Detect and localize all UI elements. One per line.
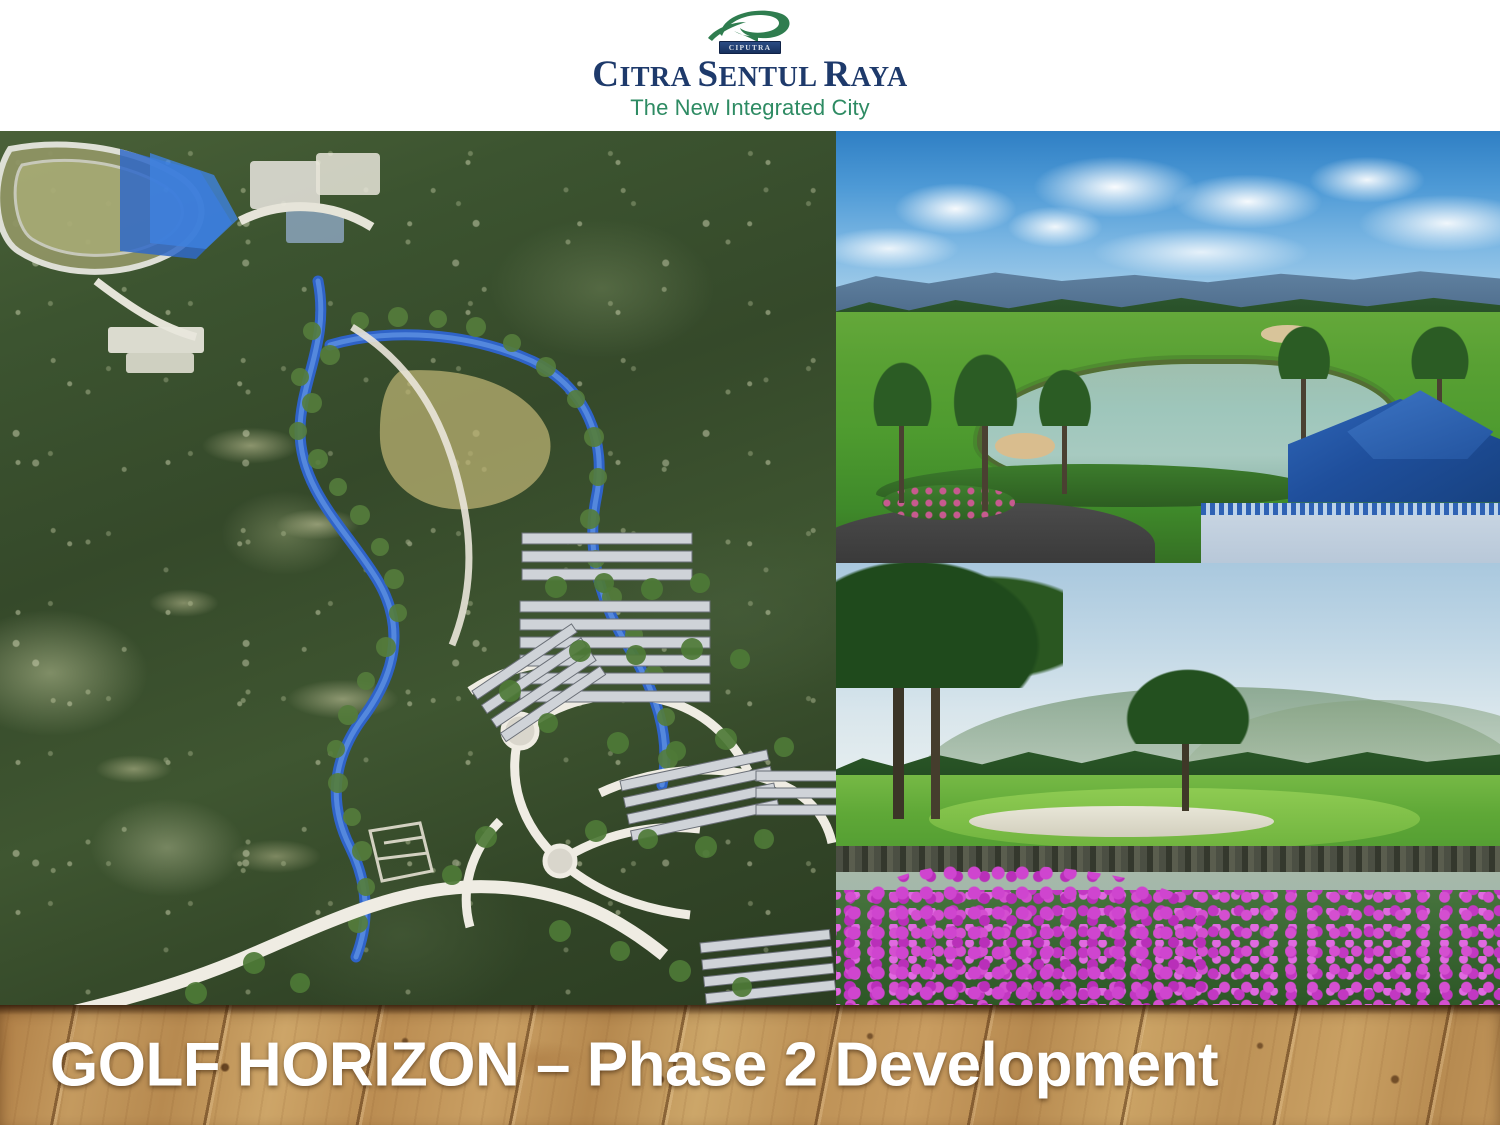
photo-clubhouse-tile-trim [1201, 503, 1500, 516]
brand-name-r2: ENTUL [719, 62, 824, 93]
title-banner: GOLF HORIZON – Phase 2 Development [0, 1005, 1500, 1125]
brand-name-c1: C [592, 54, 619, 95]
banner-top-shadow [0, 1005, 1500, 1015]
slide-title: GOLF HORIZON – Phase 2 Development [50, 1030, 1218, 1101]
ciputra-swoosh-icon: CIPUTRA [690, 4, 810, 54]
media-area [0, 131, 1500, 1005]
ciputra-badge: CIPUTRA [719, 41, 781, 54]
brand-name-r1: ITRA [619, 62, 697, 93]
aerial-river-and-roads [0, 131, 836, 1005]
photo-palm-tree [949, 347, 1022, 511]
slide-root: CIPUTRA CITRA SENTUL RAYA The New Integr… [0, 0, 1500, 1125]
photo-palm-tree [1035, 364, 1095, 494]
brand-name: CITRA SENTUL RAYA [540, 56, 960, 94]
golf-green-bougainvillea-photo [836, 563, 1500, 1005]
brand-tagline: The New Integrated City [540, 95, 960, 121]
brand-name-c3: R [823, 54, 850, 95]
slide-header: CIPUTRA CITRA SENTUL RAYA The New Integr… [0, 0, 1500, 131]
photo-palm-tree [1274, 321, 1334, 442]
aerial-masterplan-image [0, 131, 836, 1005]
brand-name-r3: AYA [851, 62, 908, 93]
photo2-foreground-palms [836, 563, 1042, 819]
golf-course-lake-clubhouse-photo [836, 131, 1500, 563]
ciputra-badge-text: CIPUTRA [729, 43, 772, 52]
brand-name-c2: S [697, 54, 718, 95]
brand-logo: CIPUTRA CITRA SENTUL RAYA The New Integr… [540, 0, 960, 120]
photo-palm-tree [869, 356, 935, 503]
photo2-palm-tree [1115, 660, 1261, 810]
photo2-bougainvillea-mound [836, 864, 1208, 1005]
